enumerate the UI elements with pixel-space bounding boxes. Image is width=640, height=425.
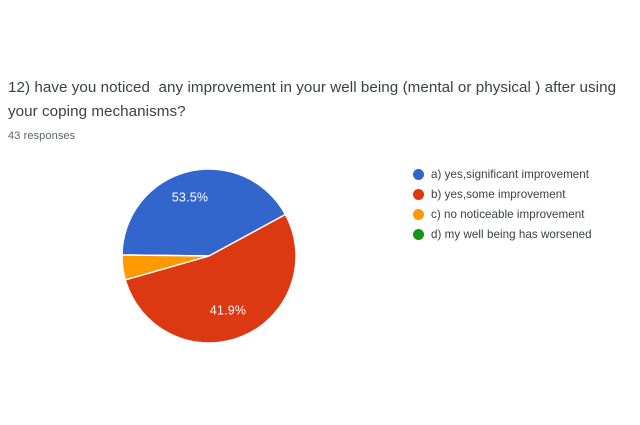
legend-item-c[interactable]: c) no noticeable improvement (413, 205, 633, 224)
circle-swatch-icon (413, 209, 424, 220)
chart-area: 41.9%53.5% a) yes,significant improvemen… (0, 150, 640, 360)
legend-item-b[interactable]: b) yes,some improvement (413, 185, 633, 204)
pie-chart[interactable]: 41.9%53.5% (110, 155, 310, 350)
response-count: 43 responses (8, 128, 628, 144)
legend-item-label: b) yes,some improvement (431, 188, 566, 202)
legend-item-a[interactable]: a) yes,significant improvement (413, 165, 633, 184)
legend-item-label: c) no noticeable improvement (431, 208, 584, 222)
pie-chart-svg: 41.9%53.5% (110, 155, 310, 350)
legend-item-d[interactable]: d) my well being has worsened (413, 225, 633, 244)
pie-slice-label: 53.5% (172, 190, 208, 204)
question-title: 12) have you noticed any improvement in … (8, 76, 628, 124)
circle-swatch-icon (413, 169, 424, 180)
legend-item-label: a) yes,significant improvement (431, 168, 589, 182)
legend-item-label: d) my well being has worsened (431, 228, 592, 242)
form-response-summary: 12) have you noticed any improvement in … (0, 0, 640, 425)
pie-slice-label: 41.9% (210, 303, 246, 317)
circle-swatch-icon (413, 189, 424, 200)
circle-swatch-icon (413, 229, 424, 240)
chart-legend: a) yes,significant improvement b) yes,so… (413, 165, 633, 245)
question-block: 12) have you noticed any improvement in … (8, 76, 628, 144)
